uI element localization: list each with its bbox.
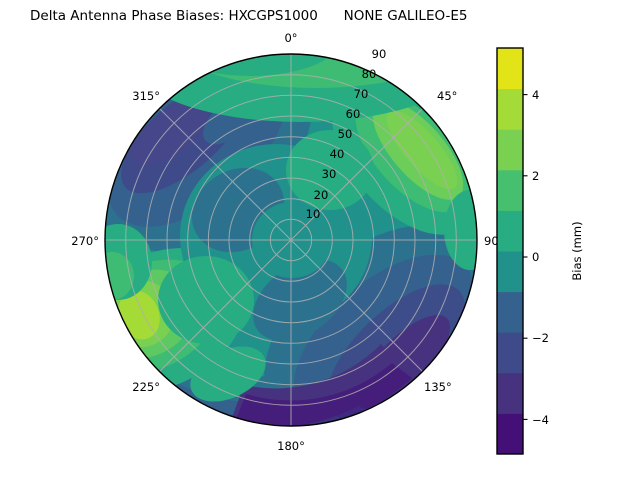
colorbar-axis-label: Bias (mm) (570, 221, 584, 280)
colorbar-gradient (497, 48, 523, 455)
cb-tick-neg2: −2 (532, 331, 549, 345)
theta-label-315: 315° (132, 89, 160, 103)
theta-label-270: 270° (71, 234, 99, 248)
r-label-90: 90 (372, 47, 387, 61)
theta-label-0: 0° (284, 31, 297, 45)
contour-band-north-3 (160, 4, 340, 76)
r-label-80: 80 (362, 67, 377, 81)
polar-chart-svg: 0° 45° 90 135° 180° 225° 270° 315° 10 20… (0, 0, 640, 480)
colorbar-band-6 (497, 170, 523, 211)
polar-plot-area: 0° 45° 90 135° 180° 225° 270° 315° 10 20… (0, 0, 640, 480)
r-label-10: 10 (306, 207, 321, 221)
theta-label-225: 225° (132, 380, 160, 394)
figure-canvas: Delta Antenna Phase Biases: HXCGPS1000 N… (0, 0, 640, 480)
r-label-60: 60 (346, 107, 361, 121)
colorbar-tick-labels: 4 2 0 −2 −4 (532, 88, 549, 427)
colorbar-band-4 (497, 251, 523, 292)
r-label-70: 70 (354, 87, 369, 101)
colorbar-band-3 (497, 292, 523, 333)
colorbar-band-7 (497, 129, 523, 170)
polar-grid (105, 54, 477, 426)
colorbar[interactable]: 4 2 0 −2 −4 Bias (mm) (497, 48, 584, 455)
theta-label-45: 45° (437, 89, 457, 103)
cb-tick-0: 0 (532, 250, 539, 264)
colorbar-band-1 (497, 373, 523, 414)
cb-tick-4: 4 (532, 88, 539, 102)
theta-label-135: 135° (424, 380, 452, 394)
r-label-30: 30 (322, 167, 337, 181)
theta-label-180: 180° (277, 439, 305, 453)
colorbar-band-5 (497, 210, 523, 251)
colorbar-band-8 (497, 89, 523, 130)
colorbar-band-0 (497, 413, 523, 454)
colorbar-band-9 (497, 48, 523, 89)
colorbar-band-2 (497, 332, 523, 373)
r-label-20: 20 (314, 188, 329, 202)
cb-tick-2: 2 (532, 169, 539, 183)
r-label-50: 50 (338, 127, 353, 141)
r-label-40: 40 (330, 147, 345, 161)
cb-tick-neg4: −4 (532, 413, 549, 427)
